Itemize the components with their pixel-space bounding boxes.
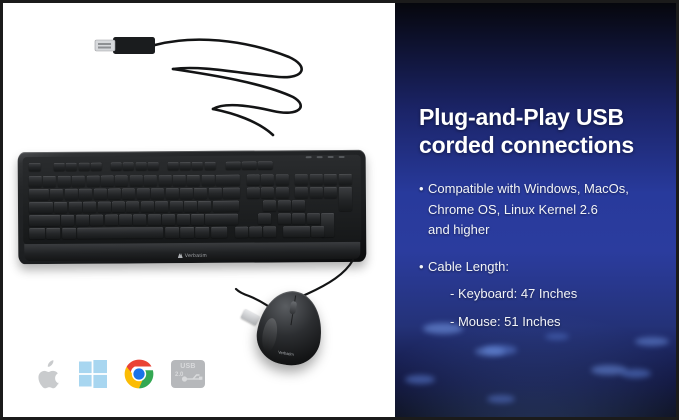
keyboard-brand-logo: Verbatim [178,253,207,259]
mouse-highlight [260,317,279,353]
windows-icon [79,360,107,388]
keyboard-usb-cable [93,17,323,137]
bullet-cable-length: • Cable Length: [419,257,671,278]
bullet-line: Chrome OS, Linux Kernel 2.6 [428,200,671,221]
apple-icon [36,359,62,389]
bullet-line: Compatible with Windows, MacOs, [428,179,671,200]
headline: Plug-and-Play USB corded connections [419,103,669,159]
decor-blob [621,369,651,378]
usb-plug-a [95,37,155,54]
bullet-marker: • [419,257,428,278]
headline-line-1: Plug-and-Play USB [419,103,669,131]
os-compatibility-icons: USB 2.0 [36,359,205,389]
usb-icon: USB 2.0 [171,360,205,388]
cable-length-sublist: - Keyboard: 47 Inches - Mouse: 51 Inches [450,284,671,332]
cable-length-keyboard: - Keyboard: 47 Inches [450,284,671,305]
keyboard: Verbatim [18,150,367,264]
headline-line-2: corded connections [419,131,669,159]
marketing-panel: Plug-and-Play USB corded connections • C… [395,3,676,417]
bullet-line: and higher [428,220,671,241]
decor-blob [475,347,505,356]
decor-blob [405,375,435,384]
mouse-brand-logo: Verbatim [278,349,294,356]
feature-bullets: • Compatible with Windows, MacOs, Chrome… [419,179,671,339]
mouse-scroll-wheel [289,301,297,315]
product-photo-panel: Verbatim Verbatim [3,3,392,417]
bullet-marker: • [419,179,428,241]
product-image-frame: Verbatim Verbatim [0,0,679,420]
keyboard-brand-text: Verbatim [185,253,207,259]
decor-blob [487,395,515,403]
bullet-compatibility: • Compatible with Windows, MacOs, Chrome… [419,179,671,241]
chrome-icon [124,359,154,389]
bullet-line: Cable Length: [428,257,671,278]
cable-length-mouse: - Mouse: 51 Inches [450,312,671,333]
